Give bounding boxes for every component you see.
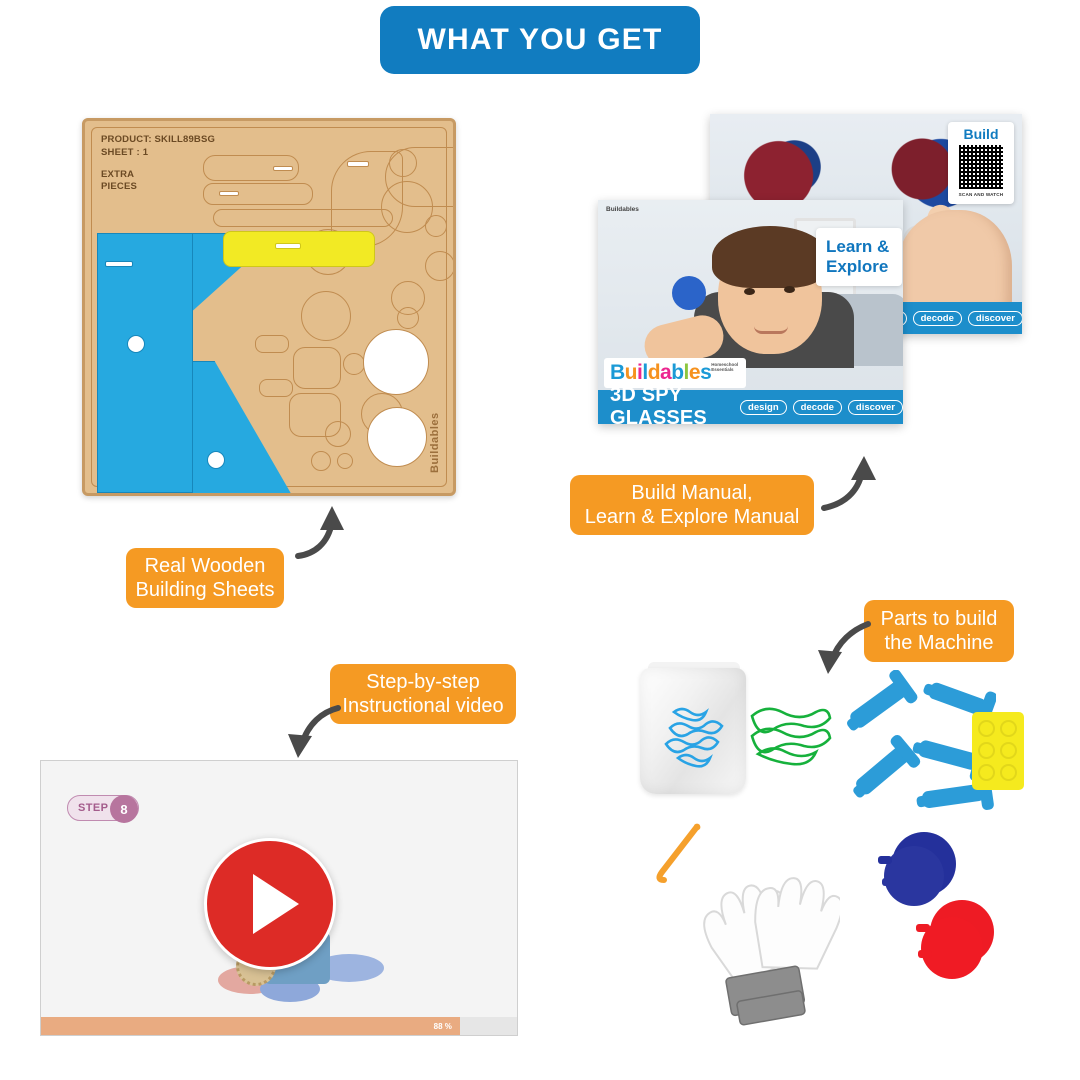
callout-line-1: Build Manual, — [631, 481, 752, 505]
wood-gear — [381, 181, 433, 233]
badge-line-1: Learn & — [826, 237, 902, 257]
learn-explore-manual-cover: Learn & Explore Buildables Buildables Ho… — [598, 200, 903, 424]
learn-explore-badge: Learn & Explore — [816, 228, 902, 286]
pad-hole — [978, 720, 995, 737]
wood-cut-shape — [259, 379, 293, 397]
callout-line-1: Parts to build — [881, 607, 998, 631]
learn-manual-footer: 3D SPY GLASSES design decode discover — [598, 390, 903, 424]
yellow-pad — [972, 712, 1024, 790]
sheet-extra-line1: EXTRA — [101, 169, 215, 182]
pad-hole — [978, 764, 995, 781]
step-label: STEP — [78, 802, 108, 814]
page-title: WHAT YOU GET — [418, 23, 663, 57]
pad-hole — [978, 742, 995, 759]
arrow-to-video — [282, 700, 344, 762]
boy-eye — [784, 286, 795, 293]
callout-line-1: Step-by-step — [366, 670, 479, 694]
sheet-product-code: PRODUCT: SKILL89BSG — [101, 134, 215, 147]
page-title-banner: WHAT YOU GET — [380, 6, 700, 74]
wood-large-hole — [363, 329, 429, 395]
blue-sheet-part — [97, 233, 193, 493]
wood-slot — [219, 191, 239, 196]
wood-hex — [293, 347, 341, 389]
arrow-to-parts — [812, 616, 874, 678]
tag-decode: decode — [913, 311, 962, 326]
callout-line-2: Learn & Explore Manual — [585, 505, 800, 529]
arrow-to-manuals — [818, 452, 884, 516]
learn-manual-brand-small: Buildables — [606, 206, 639, 213]
manual-title: 3D SPY GLASSES — [610, 384, 730, 424]
arrow-to-wooden-sheet — [292, 500, 354, 562]
wood-gear — [337, 453, 353, 469]
wood-slot — [273, 166, 293, 171]
wood-cut-shape — [255, 335, 289, 353]
poster-canvas: WHAT YOU GET PRODUCT: SKILL89BSG SHEET :… — [0, 0, 1080, 1080]
qr-card: Build SCAN AND WATCH — [948, 122, 1014, 204]
qr-title: Build — [964, 126, 999, 142]
rubber-bands — [748, 700, 834, 770]
callout-parts-to-build-the-machine: Parts to build the Machine — [864, 600, 1014, 662]
tag-design: design — [740, 400, 787, 415]
wood-gear — [389, 149, 417, 177]
blue-parts-in-bag — [664, 706, 736, 768]
sheet-brand-label: Buildables — [429, 412, 441, 473]
sheet-extra-line2: PIECES — [101, 181, 215, 194]
wood-large-hole — [367, 407, 427, 467]
blue-lens-in-hand — [672, 276, 706, 310]
callout-build-manual: Build Manual, Learn & Explore Manual — [570, 475, 814, 535]
tag-decode: decode — [793, 400, 842, 415]
step-number: 8 — [110, 795, 138, 823]
gloves — [692, 856, 840, 1026]
callout-instructional-video: Step-by-step Instructional video — [330, 664, 516, 724]
qr-subtitle: SCAN AND WATCH — [959, 192, 1004, 197]
wood-hex — [289, 393, 341, 437]
yellow-part-slot — [275, 243, 301, 249]
pad-hole — [1000, 764, 1017, 781]
pad-hole — [1000, 742, 1017, 759]
video-progress-bar[interactable]: 88 % — [41, 1017, 517, 1035]
sheet-number: SHEET : 1 — [101, 147, 215, 160]
boy-hair — [712, 226, 828, 288]
sheet-label: PRODUCT: SKILL89BSG SHEET : 1 EXTRA PIEC… — [101, 134, 215, 194]
play-icon — [253, 874, 299, 934]
callout-real-wooden-building-sheets: Real Wooden Building Sheets — [126, 548, 284, 608]
callout-line-2: Instructional video — [342, 694, 503, 718]
wood-slot — [347, 161, 369, 167]
step-badge: STEP 8 — [67, 795, 139, 821]
badge-line-2: Explore — [826, 257, 902, 277]
callout-line-1: Real Wooden — [145, 554, 266, 578]
blue-part-slot — [105, 261, 133, 267]
red-lenses — [908, 898, 1000, 988]
pad-hole — [1000, 720, 1017, 737]
tag-discover: discover — [968, 311, 1022, 326]
boy-mouth — [754, 326, 788, 334]
callout-line-2: Building Sheets — [136, 578, 275, 602]
play-button[interactable] — [204, 838, 336, 970]
qr-code-icon[interactable] — [959, 145, 1003, 189]
video-progress-fill: 88 % — [41, 1017, 460, 1035]
yellow-sheet-part — [223, 231, 375, 267]
wooden-building-sheet: PRODUCT: SKILL89BSG SHEET : 1 EXTRA PIEC… — [82, 118, 456, 496]
wood-gear — [311, 451, 331, 471]
learn-manual-tags: design decode discover — [740, 400, 903, 415]
wood-gear — [425, 251, 455, 281]
bag-contents — [664, 706, 736, 768]
buildables-logo-superscript: HomeschoolEssentials — [711, 363, 738, 373]
wood-gear — [343, 353, 365, 375]
wood-gear — [397, 307, 419, 329]
boy-eye — [744, 288, 755, 295]
wood-gear — [301, 291, 351, 341]
blue-part-hole — [127, 335, 145, 353]
blue-part-hole — [207, 451, 225, 469]
tag-discover: discover — [848, 400, 903, 415]
buildables-logo-text: Buildables — [610, 361, 711, 385]
video-progress-text: 88 % — [434, 1022, 452, 1031]
callout-line-2: the Machine — [885, 631, 994, 655]
